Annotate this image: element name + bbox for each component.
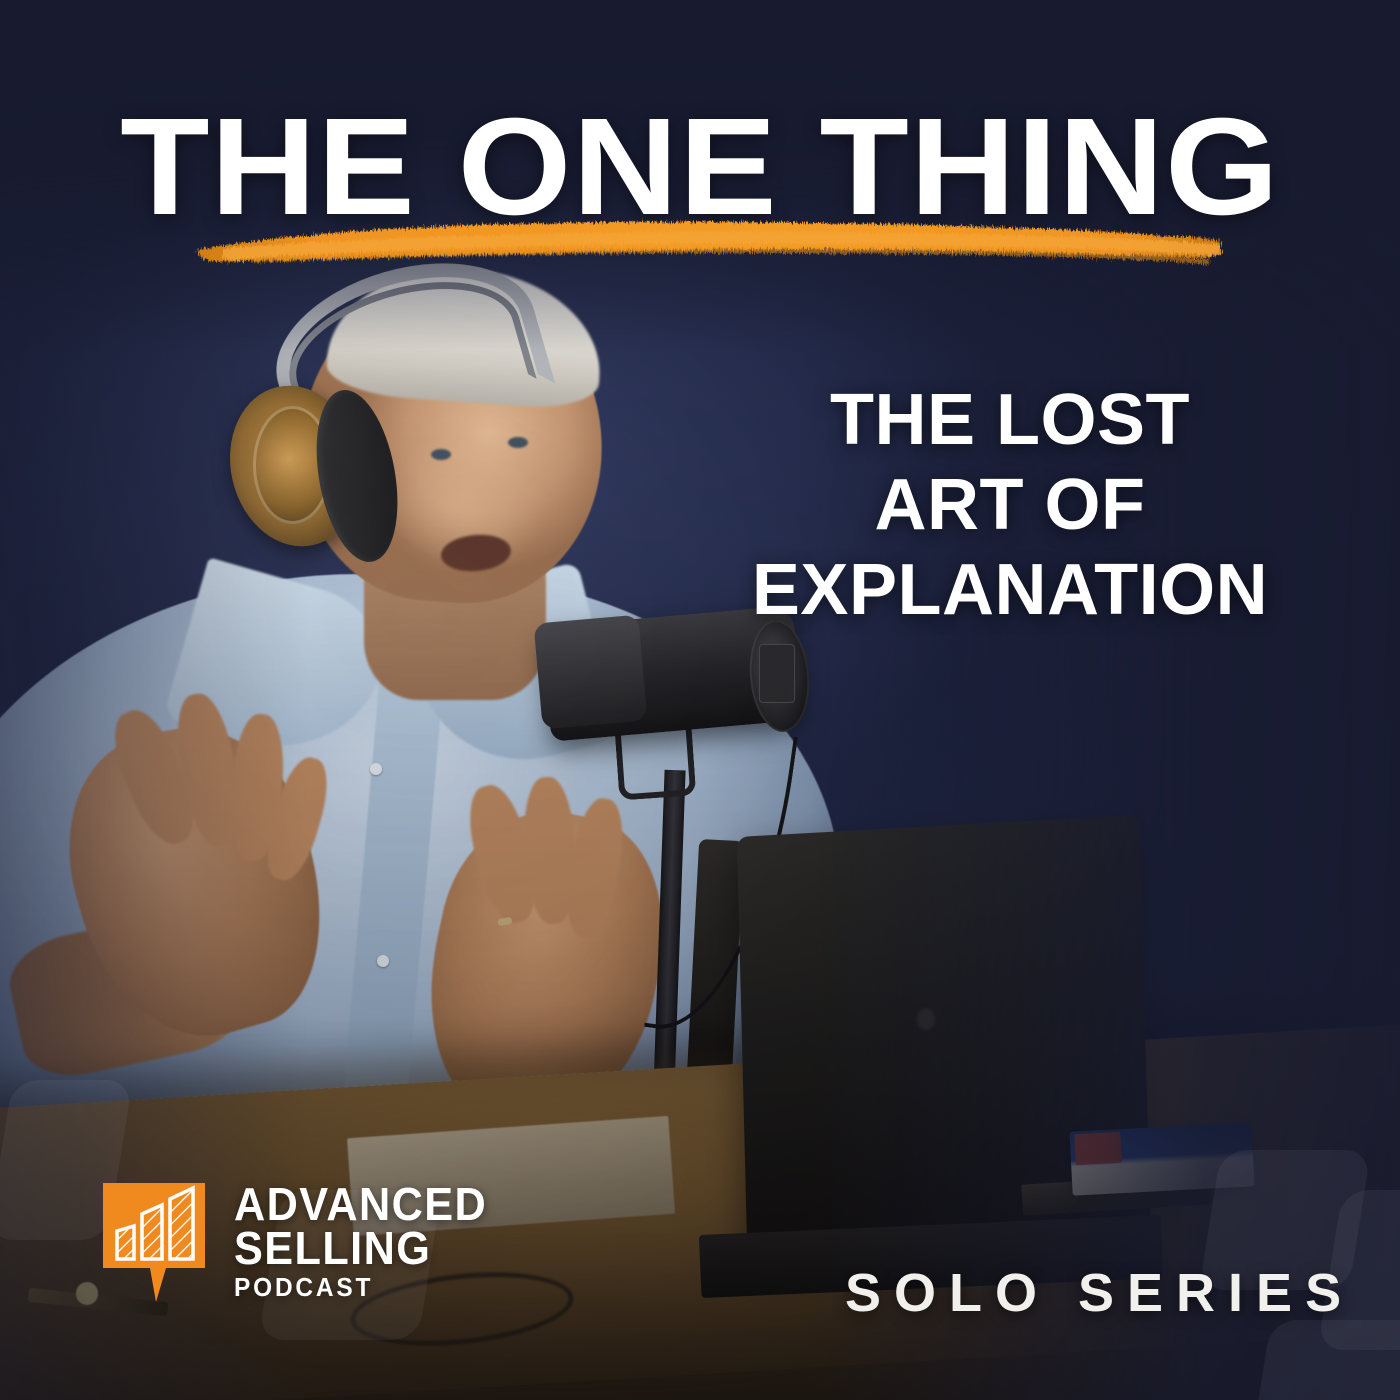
brand-line-3: PODCAST: [234, 1270, 487, 1305]
series-label: SOLO SERIES: [845, 1262, 1354, 1324]
brand-logo: ADVANCED SELLING PODCAST: [100, 1180, 503, 1308]
deco-panel-fg: [1249, 1320, 1400, 1400]
subtitle-line-2: ART OF: [690, 463, 1330, 548]
brand-line-1: ADVANCED: [234, 1182, 487, 1226]
brand-wordmark: ADVANCED SELLING PODCAST: [234, 1180, 503, 1305]
orange-brush-underline: [188, 208, 1228, 268]
podcast-cover-art: THE ONE THING THE LOST ART OF EXPLANATI: [0, 0, 1400, 1400]
brand-line-2: SELLING: [234, 1226, 487, 1270]
speech-bubble-bar-chart-icon: [100, 1180, 212, 1308]
subtitle-line-1: THE LOST: [690, 378, 1330, 463]
subtitle-line-3: EXPLANATION: [690, 548, 1330, 633]
episode-subtitle: THE LOST ART OF EXPLANATION: [690, 378, 1330, 633]
